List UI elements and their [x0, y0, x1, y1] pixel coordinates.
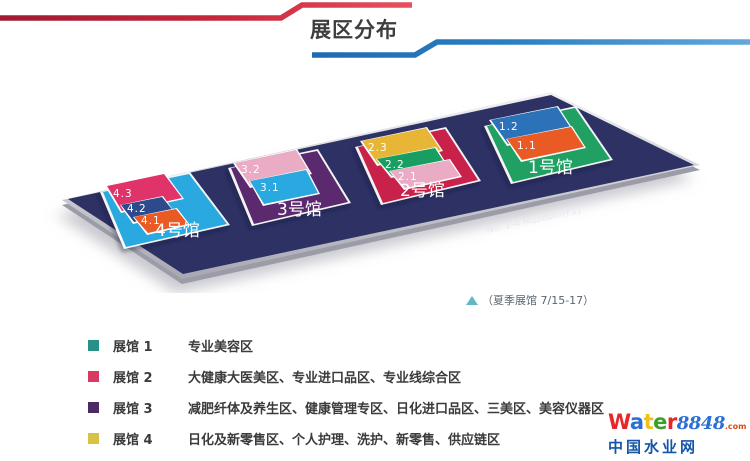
legend-swatch-hall-3 [88, 402, 99, 413]
watermark-subtitle: 中国水业网 [608, 436, 748, 457]
watermark-letter-w: W [608, 410, 630, 434]
section-2-3-label: 2.3 [368, 142, 388, 154]
legend-row[interactable]: 展馆 1 专业美容区 [88, 330, 708, 361]
legend-swatch-hall-1 [88, 340, 99, 351]
legend-swatch-hall-4 [88, 433, 99, 444]
legend-swatch-hall-2 [88, 371, 99, 382]
watermark-number: 8848 [677, 413, 725, 434]
legend-desc-1: 专业美容区 [188, 336, 253, 355]
legend-hall-label-2: 展馆 2 [113, 367, 188, 386]
hall-2-name: 2号馆 [400, 181, 445, 201]
exhibition-map-svg: 4.3 4.2 4.1 4号馆 3.2 3.1 3号馆 [0, 78, 750, 293]
hall-4-name: 4号馆 [155, 221, 200, 241]
legend-desc-2: 大健康大医美区、专业进口品区、专业线综合区 [188, 367, 461, 386]
section-4-3-label: 4.3 [113, 188, 133, 200]
watermark: Water8848.com 中国水业网 [608, 412, 748, 457]
section-3-2-label: 3.2 [241, 164, 261, 176]
watermark-wordmark: Water8848.com [608, 412, 748, 433]
watermark-letter-r: r [667, 410, 677, 434]
section-1-2-label: 1.2 [499, 121, 519, 133]
season-caption: （夏季展馆 7/15-17） [466, 292, 594, 308]
watermark-letter-a: a [630, 410, 644, 434]
legend-hall-label-3: 展馆 3 [113, 398, 188, 417]
section-1-1-label: 1.1 [517, 140, 537, 152]
exhibition-map: 4.3 4.2 4.1 4号馆 3.2 3.1 3号馆 [0, 78, 750, 293]
hall-1-name: 1号馆 [528, 158, 573, 178]
legend-desc-3: 减肥纤体及养生区、健康管理专区、日化进口品区、三美区、美容仪器区 [188, 398, 604, 417]
season-caption-text: （夏季展馆 7/15-17） [482, 294, 594, 307]
watermark-letter-t: t [644, 410, 654, 434]
legend-row[interactable]: 展馆 2 大健康大医美区、专业进口品区、专业线综合区 [88, 361, 708, 392]
legend-hall-label-4: 展馆 4 [113, 429, 188, 448]
page-header: 展区分布 [0, 0, 750, 72]
triangle-marker-icon [466, 296, 478, 305]
hall-3-name: 3号馆 [277, 200, 322, 220]
watermark-letter-e: e [653, 410, 667, 434]
section-3-1-label: 3.1 [260, 182, 280, 194]
legend-desc-4: 日化及新零售区、个人护理、洗护、新零售、供应链区 [188, 429, 500, 448]
watermark-dotcom: .com [725, 422, 747, 431]
section-4-2-label: 4.2 [127, 203, 147, 215]
legend-hall-label-1: 展馆 1 [113, 336, 188, 355]
page-title: 展区分布 [310, 14, 398, 44]
